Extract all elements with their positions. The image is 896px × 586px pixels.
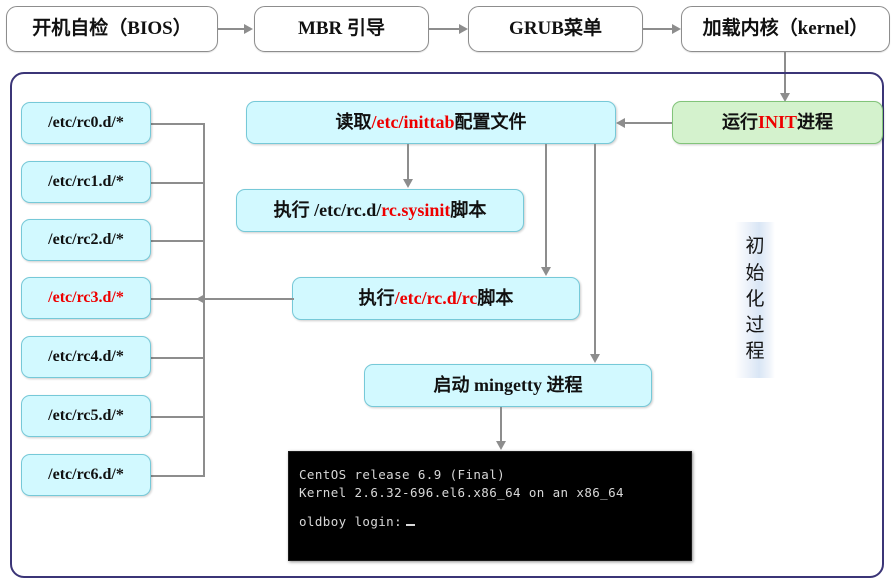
arrowhead-mbr-grub (459, 24, 468, 34)
vlabel-char-2: 化 (745, 287, 764, 313)
login-terminal: CentOS release 6.9 (Final) Kernel 2.6.32… (288, 451, 692, 561)
terminal-line-release: CentOS release 6.9 (Final) (299, 466, 691, 484)
vlabel-char-3: 过 (745, 313, 764, 339)
inittab-suffix: 配置文件 (455, 112, 527, 133)
inittab-highlight: /etc/inittab (372, 112, 455, 133)
run-rcsysinit-box: 执行 /etc/rc.d/rc.sysinit 脚本 (236, 189, 524, 232)
connector-rc-runlevels (204, 298, 294, 300)
connector-grub-kernel (643, 28, 673, 30)
arrowhead-bios-mbr (244, 24, 253, 34)
arrowhead-mingetty-terminal (496, 441, 506, 450)
vlabel-char-1: 始 (745, 261, 764, 287)
read-inittab-box: 读取/etc/inittab配置文件 (246, 101, 616, 144)
connector-mingetty-terminal (500, 407, 502, 443)
flow-step-mbr: MBR 引导 (254, 6, 429, 52)
arrowhead-grub-kernel (672, 24, 681, 34)
vlabel-char-0: 初 (745, 234, 764, 260)
arrowhead-inittab-rcsysinit (403, 179, 413, 188)
init-process-box: 运行 INIT 进程 (672, 101, 883, 144)
terminal-login-prompt: oldboy login: (299, 514, 402, 529)
runlevel-bracket-arm-6 (150, 475, 205, 477)
rcsysinit-suffix: 脚本 (450, 200, 486, 221)
connector-bios-mbr (218, 28, 246, 30)
start-mingetty-box: 启动 mingetty 进程 (364, 364, 652, 407)
rcsysinit-highlight: rc.sysinit (381, 200, 450, 221)
runlevel-box-rc1: /etc/rc1.d/* (21, 161, 151, 203)
connector-inittab-mingetty (594, 144, 596, 356)
vlabel-char-4: 程 (745, 339, 764, 365)
rc-highlight: /etc/rc.d/rc (395, 288, 478, 309)
runlevel-box-rc4: /etc/rc4.d/* (21, 336, 151, 378)
runlevel-box-rc0: /etc/rc0.d/* (21, 102, 151, 144)
runlevel-bracket-arm-3 (150, 298, 205, 300)
connector-inittab-rc (545, 144, 547, 269)
arrowhead-inittab-mingetty (590, 354, 600, 363)
terminal-line-kernel: Kernel 2.6.32-696.el6.x86_64 on an x86_6… (299, 484, 691, 502)
arrowhead-inittab-rc (541, 267, 551, 276)
terminal-login-prompt-row: oldboy login: (299, 513, 691, 531)
vertical-label-init-process: 初 始 化 过 程 (735, 222, 775, 378)
terminal-cursor (406, 524, 415, 526)
runlevel-bracket-arm-5 (150, 416, 205, 418)
runlevel-box-rc5: /etc/rc5.d/* (21, 395, 151, 437)
connector-init-inittab (623, 122, 672, 124)
init-suffix: 进程 (797, 112, 833, 133)
mingetty-label: 启动 mingetty 进程 (434, 375, 583, 396)
runlevel-box-rc3: /etc/rc3.d/* (21, 277, 151, 319)
rc-prefix: 执行 (359, 288, 395, 309)
flow-step-kernel: 加载内核（kernel） (681, 6, 890, 52)
diagram-canvas: 开机自检（BIOS） MBR 引导 GRUB菜单 加载内核（kernel） 运行… (0, 0, 896, 586)
connector-inittab-rcsysinit (407, 144, 409, 181)
terminal-blank-line (299, 502, 691, 513)
rc-suffix: 脚本 (477, 288, 513, 309)
arrowhead-init-inittab (616, 118, 625, 128)
runlevel-bracket-arm-1 (150, 182, 205, 184)
connector-mbr-grub (429, 28, 461, 30)
runlevel-box-rc2: /etc/rc2.d/* (21, 219, 151, 261)
init-prefix: 运行 (722, 112, 758, 133)
runlevel-box-rc6: /etc/rc6.d/* (21, 454, 151, 496)
flow-step-grub: GRUB菜单 (468, 6, 643, 52)
inittab-prefix: 读取 (336, 112, 372, 133)
init-highlight: INIT (758, 112, 797, 133)
runlevel-bracket-arm-4 (150, 357, 205, 359)
runlevel-bracket-arm-2 (150, 240, 205, 242)
run-rc-box: 执行/etc/rc.d/rc脚本 (292, 277, 580, 320)
rcsysinit-prefix: 执行 /etc/rc.d/ (274, 200, 382, 221)
flow-step-bios: 开机自检（BIOS） (6, 6, 218, 52)
runlevel-bracket-arm-0 (150, 123, 205, 125)
